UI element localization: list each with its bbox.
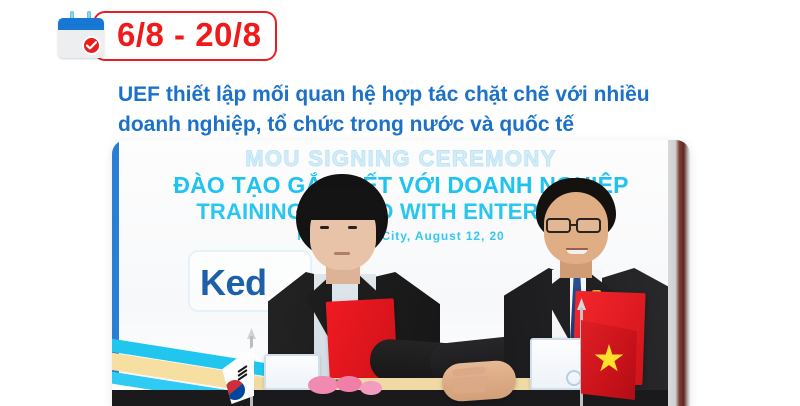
flower-2 bbox=[336, 376, 362, 392]
calendar-header-bar bbox=[58, 18, 104, 30]
ceremony-photo: MOU SIGNING CEREMONY ĐÀO TẠO GẮN KẾT VỚI… bbox=[112, 140, 690, 406]
date-badge-row: 6/8 - 20/8 bbox=[55, 10, 277, 62]
person-right-glasses-bridge bbox=[571, 224, 577, 226]
south-korea-flag bbox=[222, 328, 280, 406]
flower-1 bbox=[308, 376, 338, 394]
person-left-fringe bbox=[298, 188, 386, 220]
vietnam-flag bbox=[570, 298, 642, 406]
person-left-eye-left bbox=[320, 226, 329, 229]
person-right-glasses-right bbox=[576, 218, 601, 233]
korea-taegeuk-icon bbox=[222, 377, 248, 403]
kedu-logo-text: Ked bbox=[200, 262, 267, 304]
flower-3 bbox=[360, 381, 382, 395]
door-frame-right bbox=[668, 140, 690, 406]
date-range-badge: 6/8 - 20/8 bbox=[93, 11, 277, 60]
page-headline: UEF thiết lập mối quan hệ hợp tác chặt c… bbox=[118, 80, 678, 140]
banner-line-1: MOU SIGNING CEREMONY bbox=[112, 146, 690, 172]
person-right-mouth bbox=[566, 248, 588, 254]
calendar-check-icon bbox=[55, 10, 107, 62]
headline-line-2: doanh nghiệp, tổ chức trong nước và quốc… bbox=[118, 110, 678, 140]
korea-flag-cloth bbox=[222, 346, 254, 404]
headline-line-1: UEF thiết lập mối quan hệ hợp tác chặt c… bbox=[118, 80, 678, 110]
calendar-body bbox=[58, 18, 104, 58]
person-right-glasses-left bbox=[546, 218, 571, 233]
page-root: 6/8 - 20/8 UEF thiết lập mối quan hệ hợp… bbox=[0, 0, 800, 406]
calendar-check-badge bbox=[82, 36, 101, 55]
person-left-eye-right bbox=[348, 226, 357, 229]
person-left-mouth bbox=[334, 252, 350, 255]
